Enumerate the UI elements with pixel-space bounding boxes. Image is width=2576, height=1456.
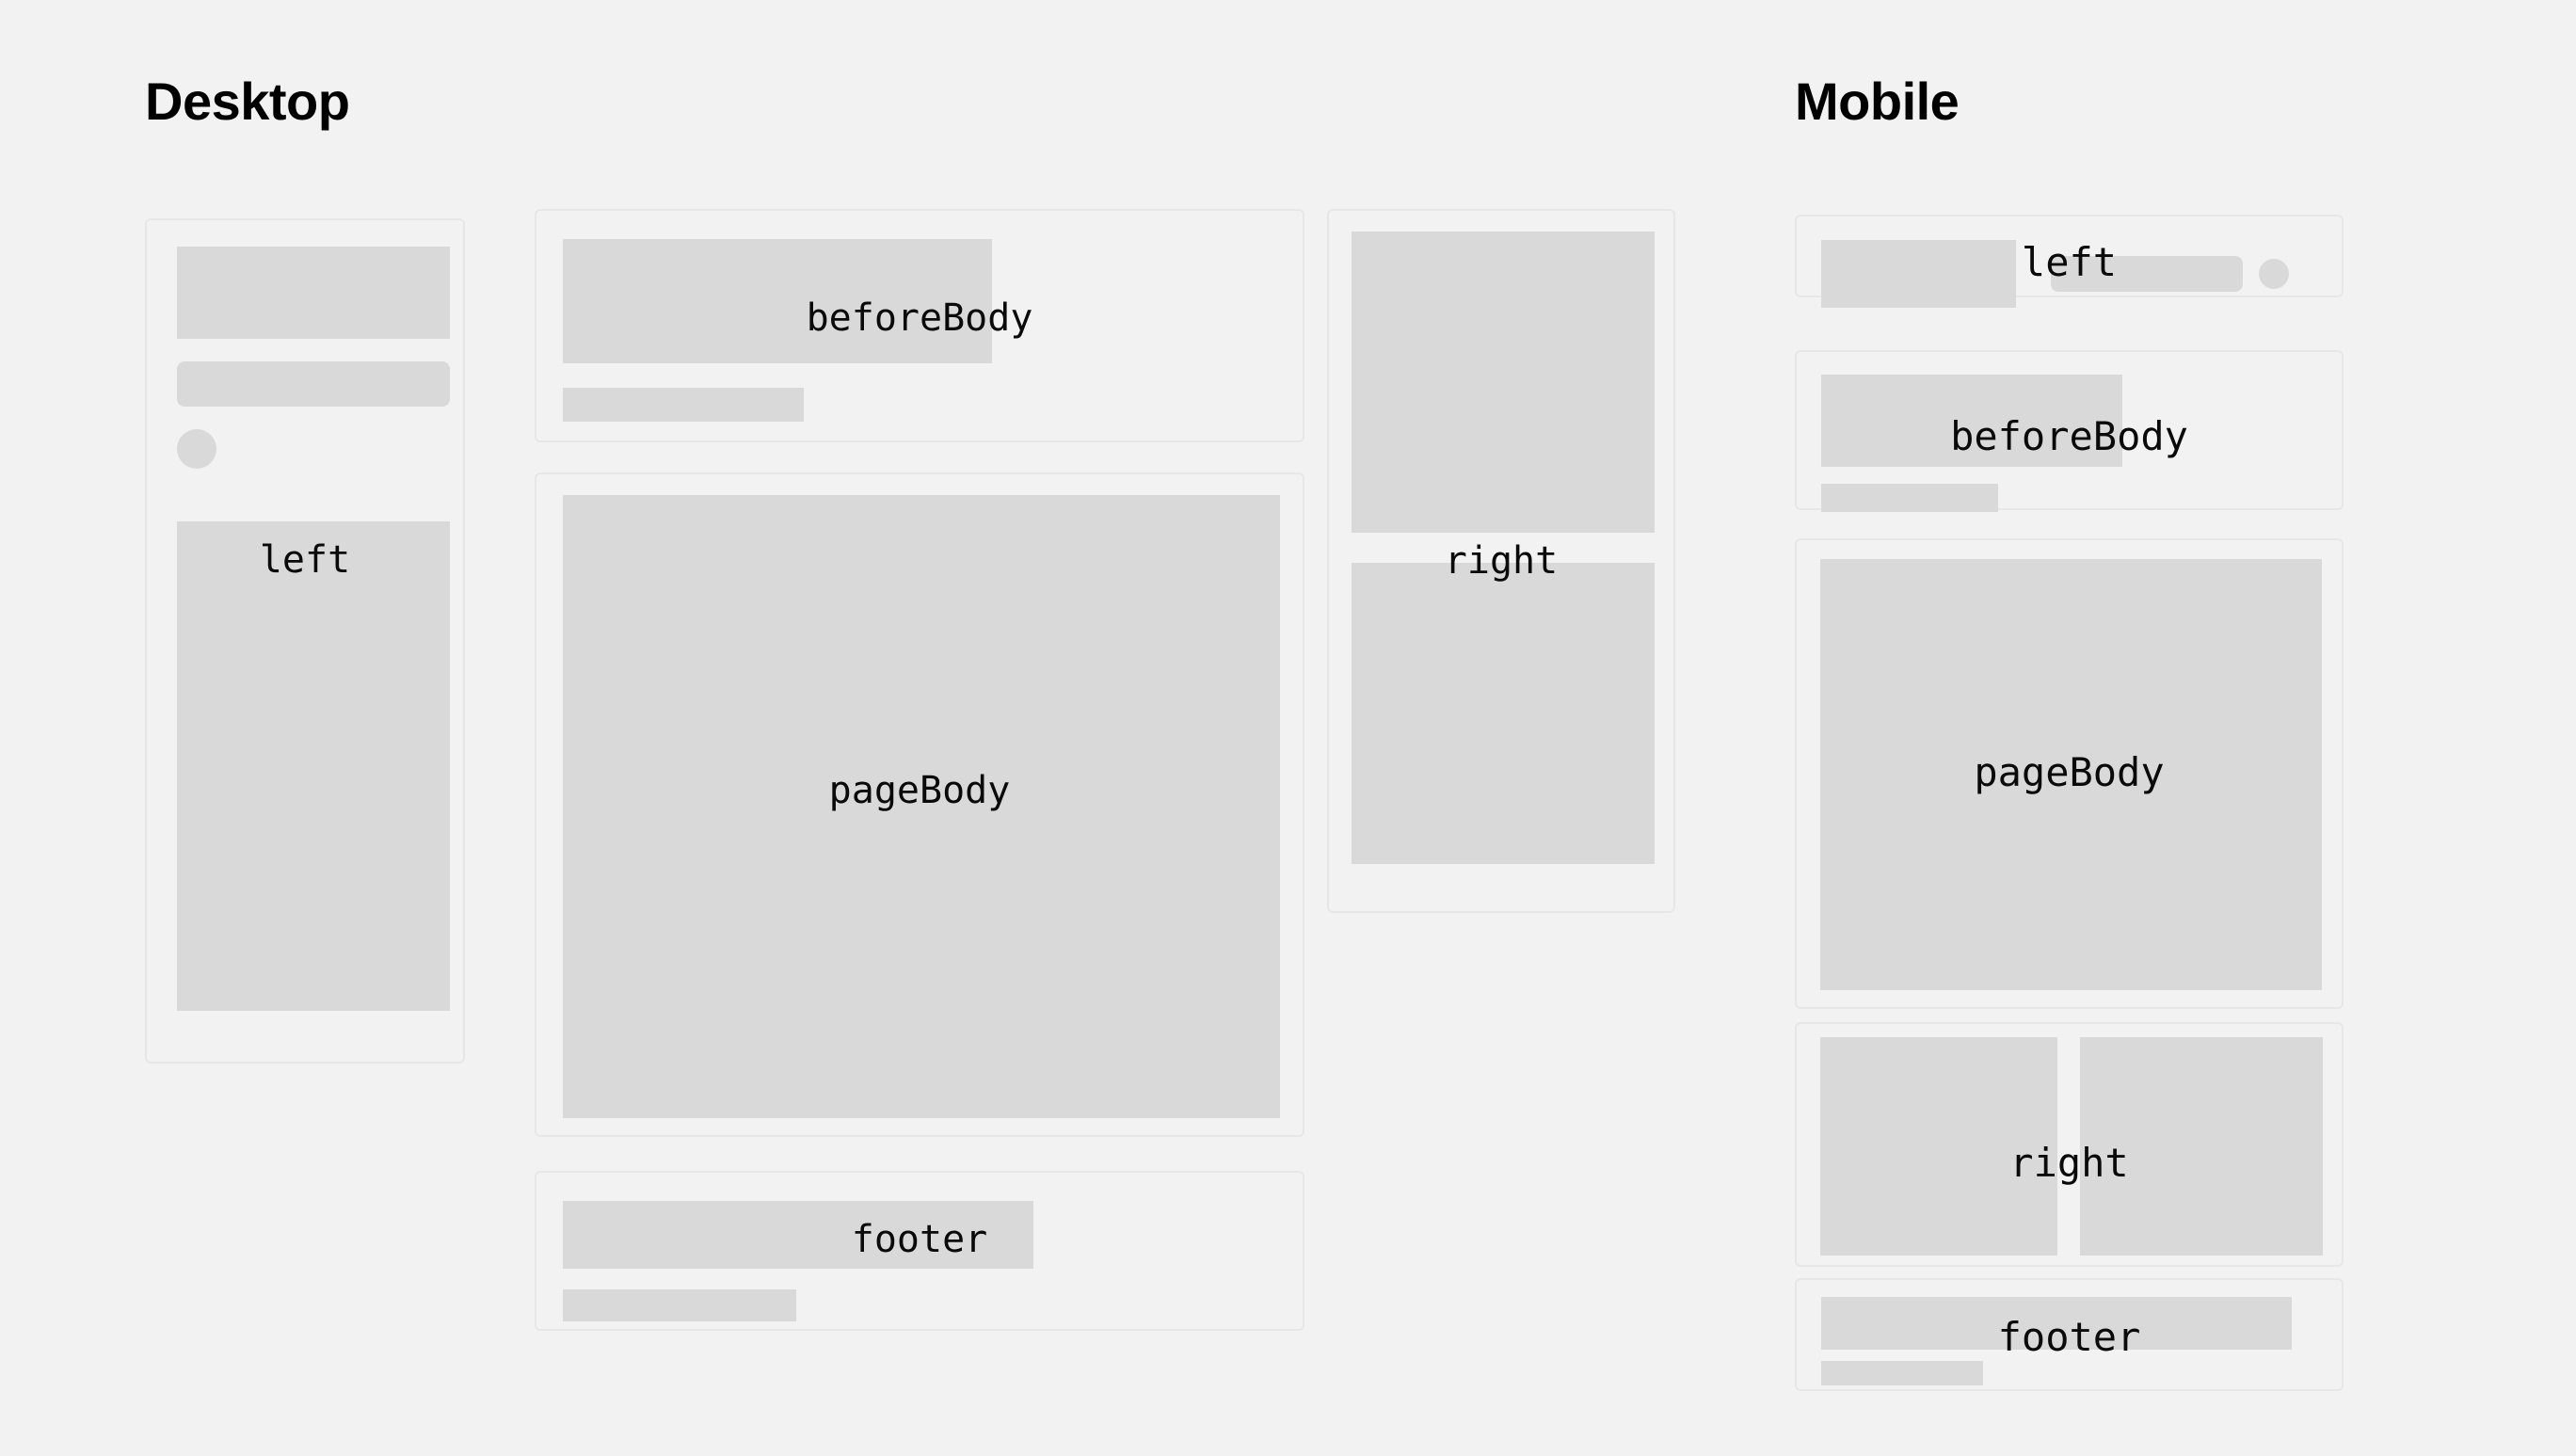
placeholder-block xyxy=(1821,240,2016,308)
placeholder-avatar-circle xyxy=(177,429,216,469)
mobile-right-panel[interactable] xyxy=(1795,1022,2344,1267)
placeholder-block xyxy=(2051,256,2243,292)
placeholder-block xyxy=(1820,1037,2057,1256)
placeholder-block xyxy=(1820,559,2322,990)
placeholder-block xyxy=(1821,1361,1983,1385)
placeholder-block xyxy=(2080,1037,2323,1256)
desktop-pagebody-panel[interactable] xyxy=(535,472,1304,1137)
desktop-left-panel[interactable] xyxy=(145,218,465,1064)
placeholder-block xyxy=(1821,375,2122,467)
placeholder-block xyxy=(1352,563,1655,864)
placeholder-block xyxy=(1821,484,1998,512)
placeholder-block xyxy=(563,388,804,422)
desktop-right-panel[interactable] xyxy=(1327,209,1675,913)
mobile-heading: Mobile xyxy=(1795,75,1959,128)
placeholder-block xyxy=(563,495,1280,1118)
placeholder-block xyxy=(177,361,450,407)
placeholder-block xyxy=(563,239,992,363)
mobile-beforebody-panel[interactable] xyxy=(1795,350,2344,510)
placeholder-block xyxy=(563,1201,1033,1269)
mobile-left-panel[interactable] xyxy=(1795,215,2344,297)
placeholder-block xyxy=(177,247,450,339)
placeholder-avatar-circle xyxy=(2259,259,2289,289)
placeholder-block xyxy=(563,1289,796,1321)
mobile-pagebody-panel[interactable] xyxy=(1795,538,2344,1009)
mobile-footer-panel[interactable] xyxy=(1795,1278,2344,1391)
desktop-heading: Desktop xyxy=(145,75,349,128)
placeholder-block xyxy=(1821,1297,2292,1350)
wireframe-canvas: Desktop left beforeBody pageBody right f… xyxy=(0,0,2576,1456)
placeholder-block xyxy=(1352,232,1655,533)
placeholder-block xyxy=(177,521,450,1011)
desktop-footer-panel[interactable] xyxy=(535,1171,1304,1331)
desktop-beforebody-panel[interactable] xyxy=(535,209,1304,442)
